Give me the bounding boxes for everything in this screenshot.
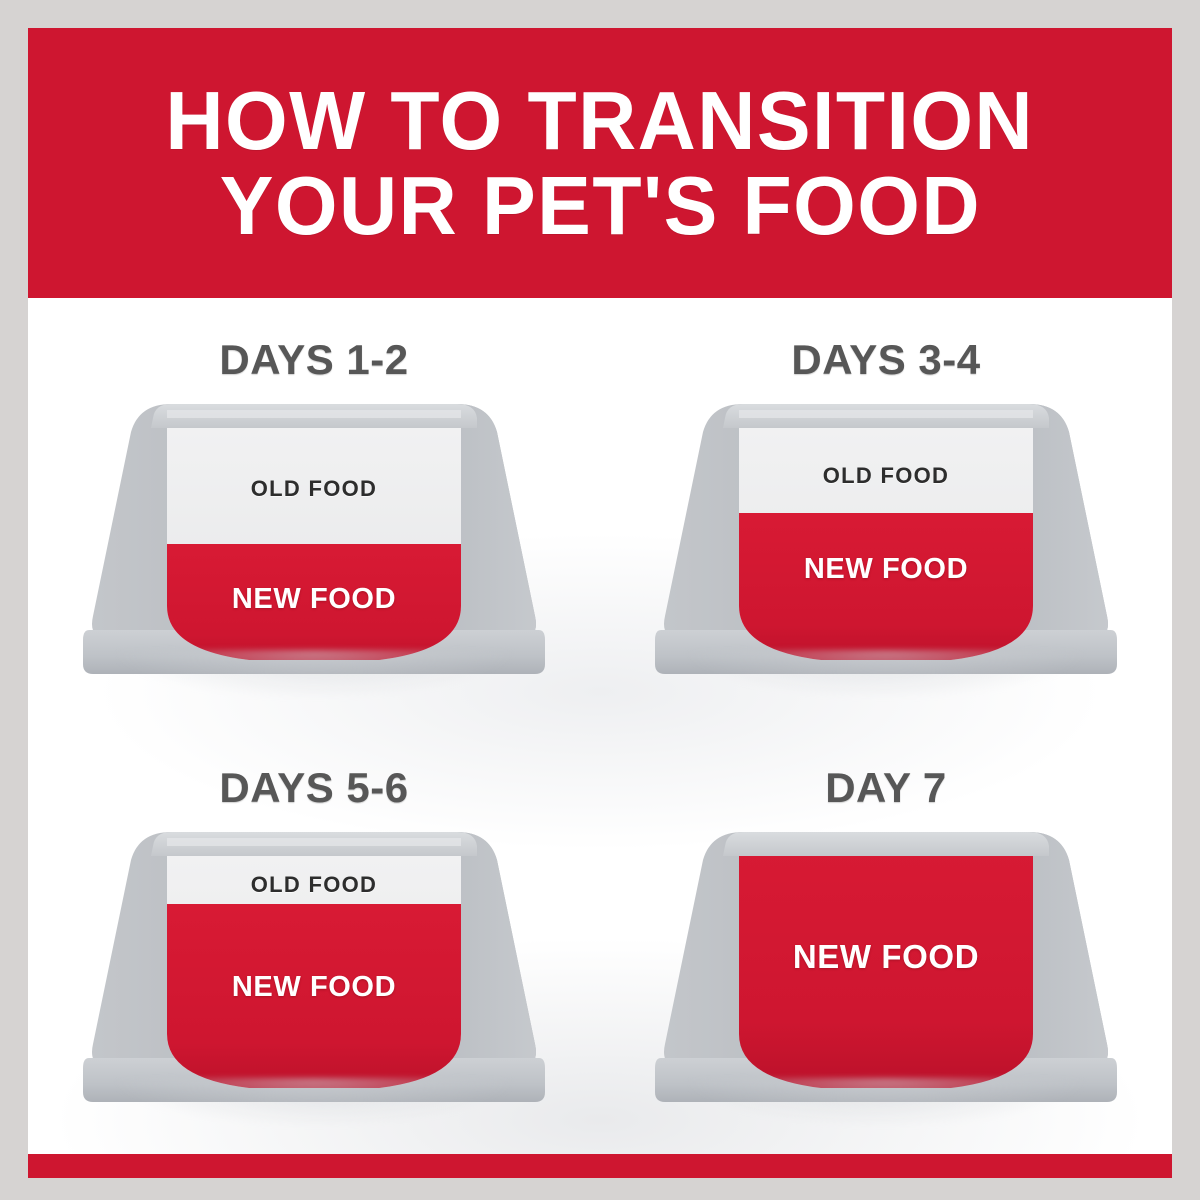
page-title-line-2: YOUR PET'S FOOD	[219, 165, 980, 246]
bowl-svg	[79, 398, 549, 688]
new-food-fill	[159, 904, 469, 1102]
bowl-graphic: OLD FOOD NEW FOOD	[79, 398, 549, 688]
bowl-graphic: OLD FOOD NEW FOOD	[651, 398, 1121, 688]
step-card-day-7[interactable]: DAY 7	[600, 726, 1172, 1154]
body-panel: DAYS 1-2	[28, 298, 1172, 1154]
step-card-days-3-4[interactable]: DAYS 3-4	[600, 298, 1172, 726]
step-card-days-1-2[interactable]: DAYS 1-2	[28, 298, 600, 726]
step-label: DAYS 3-4	[600, 336, 1172, 384]
step-card-days-5-6[interactable]: DAYS 5-6	[28, 726, 600, 1154]
step-label: DAYS 1-2	[28, 336, 600, 384]
bowl-graphic: NEW FOOD	[651, 826, 1121, 1116]
new-food-fill	[731, 513, 1041, 673]
footer-accent-bar	[28, 1154, 1172, 1178]
infographic-root: HOW TO TRANSITION YOUR PET'S FOOD DAYS 1…	[0, 0, 1200, 1200]
steps-grid: DAYS 1-2	[28, 298, 1172, 1154]
header-banner: HOW TO TRANSITION YOUR PET'S FOOD	[28, 28, 1172, 298]
new-food-fill	[731, 834, 1041, 1102]
step-label: DAY 7	[600, 764, 1172, 812]
bowl-svg	[79, 826, 549, 1116]
bowl-svg	[651, 398, 1121, 688]
bowl-graphic: OLD FOOD NEW FOOD	[79, 826, 549, 1116]
bowl-svg	[651, 826, 1121, 1116]
page-title-line-1: HOW TO TRANSITION	[166, 80, 1035, 161]
step-label: DAYS 5-6	[28, 764, 600, 812]
